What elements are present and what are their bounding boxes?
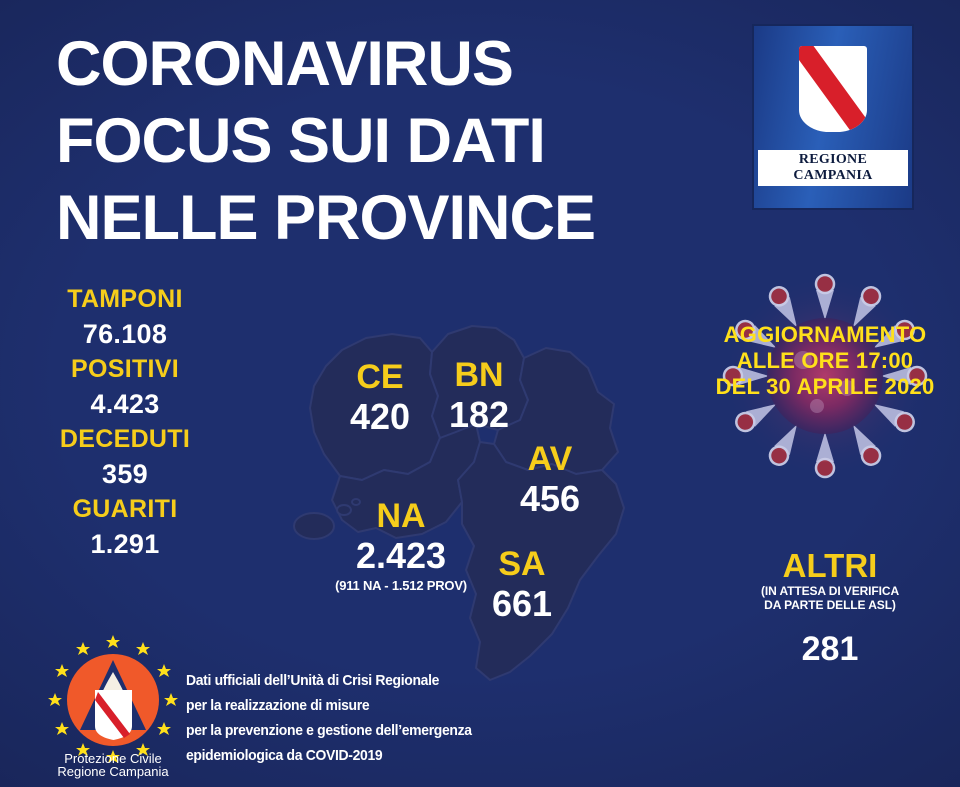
campania-shield-icon bbox=[95, 690, 132, 740]
pc-logo-line-2: Regione Campania bbox=[57, 764, 169, 779]
regione-campania-banner: REGIONE CAMPANIA bbox=[758, 150, 908, 186]
stat-label-tamponi: TAMPONI bbox=[0, 282, 250, 316]
province-label-ce: CE 420 bbox=[320, 358, 440, 438]
regione-campania-logo: REGIONE CAMPANIA bbox=[752, 24, 914, 210]
altri-title: ALTRI bbox=[715, 548, 945, 584]
province-value-ce: 420 bbox=[320, 396, 440, 438]
update-timestamp: AGGIORNAMENTO ALLE ORE 17:00 DEL 30 APRI… bbox=[697, 322, 953, 400]
footnote: Dati ufficiali dell’Unità di Crisi Regio… bbox=[186, 668, 516, 768]
title-line-1: CORONAVIRUS bbox=[56, 26, 696, 103]
province-label-sa: SA 661 bbox=[462, 545, 582, 625]
province-value-sa: 661 bbox=[462, 583, 582, 625]
province-code-av: AV bbox=[490, 440, 610, 478]
stat-value-positivi: 4.423 bbox=[0, 386, 250, 422]
province-code-na: NA bbox=[313, 497, 489, 535]
altri-value: 281 bbox=[715, 628, 945, 670]
footnote-line-1: Dati ufficiali dell’Unità di Crisi Regio… bbox=[186, 668, 493, 693]
altri-block: ALTRI (IN ATTESA DI VERIFICA DA PARTE DE… bbox=[715, 548, 945, 670]
province-value-bn: 182 bbox=[424, 394, 534, 436]
protezione-civile-logo: Protezione Civile Regione Campania bbox=[40, 628, 186, 780]
summary-stats: TAMPONI 76.108 POSITIVI 4.423 DECEDUTI 3… bbox=[0, 282, 250, 562]
update-line-1: AGGIORNAMENTO bbox=[697, 322, 953, 348]
province-label-bn: BN 182 bbox=[424, 356, 534, 436]
update-line-2: ALLE ORE 17:00 bbox=[697, 348, 953, 374]
footnote-line-3: per la prevenzione e gestione dell’emerg… bbox=[186, 718, 493, 743]
infographic-poster: CORONAVIRUS FOCUS SUI DATI NELLE PROVINC… bbox=[0, 0, 960, 787]
stat-value-deceduti: 359 bbox=[0, 456, 250, 492]
province-value-av: 456 bbox=[490, 478, 610, 520]
stat-label-guariti: GUARITI bbox=[0, 492, 250, 526]
stat-label-positivi: POSITIVI bbox=[0, 352, 250, 386]
altri-sub-1: (IN ATTESA DI VERIFICA bbox=[715, 584, 945, 598]
province-label-av: AV 456 bbox=[490, 440, 610, 520]
province-code-ce: CE bbox=[320, 358, 440, 396]
stat-value-tamponi: 76.108 bbox=[0, 316, 250, 352]
title-line-3: NELLE PROVINCE bbox=[56, 180, 696, 257]
title-line-2: FOCUS SUI DATI bbox=[56, 103, 696, 180]
altri-sub-2: DA PARTE DELLE ASL) bbox=[715, 598, 945, 612]
update-line-3: DEL 30 APRILE 2020 bbox=[697, 374, 953, 400]
province-code-bn: BN bbox=[424, 356, 534, 394]
campania-shield-icon bbox=[799, 46, 867, 132]
stat-value-guariti: 1.291 bbox=[0, 526, 250, 562]
stat-label-deceduti: DECEDUTI bbox=[0, 422, 250, 456]
page-title: CORONAVIRUS FOCUS SUI DATI NELLE PROVINC… bbox=[56, 26, 696, 257]
province-code-sa: SA bbox=[462, 545, 582, 583]
footnote-line-4: epidemiologica da COVID-2019 bbox=[186, 743, 493, 768]
footnote-line-2: per la realizzazione di misure bbox=[186, 693, 493, 718]
